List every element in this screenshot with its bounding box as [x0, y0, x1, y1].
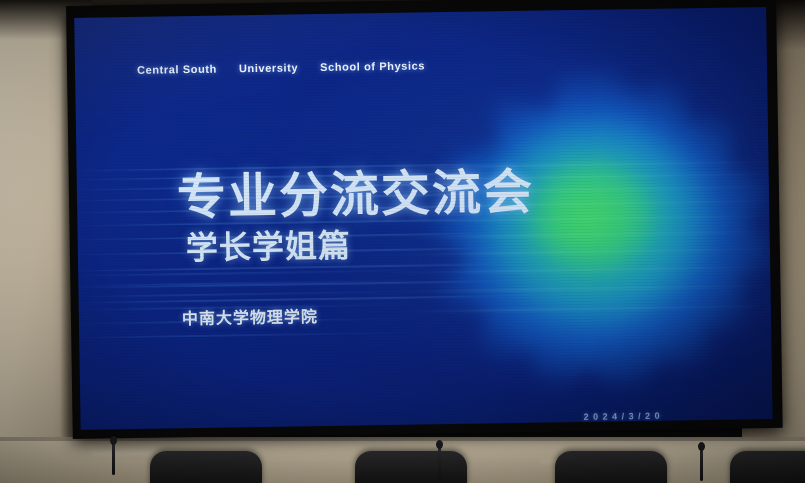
- slide-title: 专业分流交流会: [176, 153, 534, 230]
- slide-subtitle: 学长学姐篇: [185, 221, 351, 270]
- chair-back: [355, 451, 467, 483]
- slide-organization: 中南大学物理学院: [182, 303, 318, 329]
- microphone-stem: [438, 445, 441, 479]
- display-bezel: Central SouthUniversitySchool of Physics…: [66, 0, 783, 439]
- microphone-stem: [700, 447, 703, 481]
- slide-kicker: Central SouthUniversitySchool of Physics: [137, 60, 425, 77]
- chair-back: [730, 451, 805, 483]
- presentation-screen: Central SouthUniversitySchool of Physics…: [74, 7, 772, 430]
- display-bezel-inner: Central SouthUniversitySchool of Physics…: [74, 7, 772, 430]
- microphone-stem: [112, 441, 115, 475]
- kicker-word-2: University: [239, 62, 298, 75]
- chair-back: [555, 451, 667, 483]
- chair-back: [150, 451, 262, 483]
- conference-room-photo: Central SouthUniversitySchool of Physics…: [0, 0, 805, 483]
- kicker-word-3: School of Physics: [320, 60, 425, 74]
- slide-date: 2024/3/20: [583, 411, 664, 422]
- kicker-word-1: Central South: [137, 64, 217, 77]
